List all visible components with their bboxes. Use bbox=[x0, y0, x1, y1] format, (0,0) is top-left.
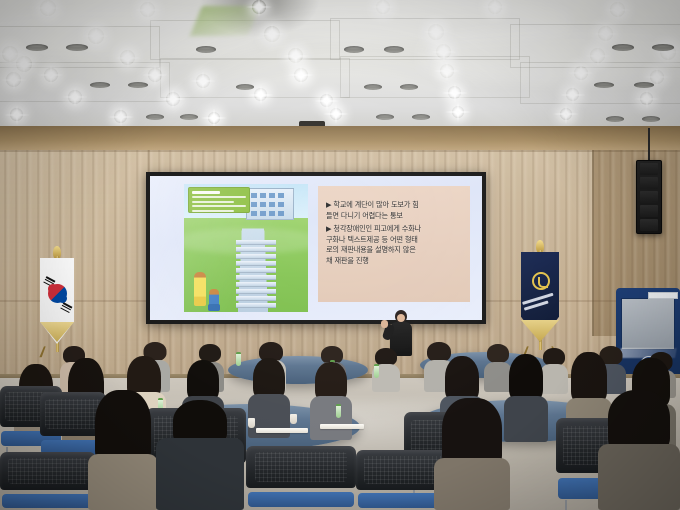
ceiling-downlight bbox=[598, 26, 613, 41]
ceiling-downlight bbox=[68, 90, 82, 104]
ceiling-downlight bbox=[428, 24, 444, 40]
audience-member-foreground bbox=[598, 392, 680, 510]
ceiling-air-vent bbox=[236, 84, 254, 90]
water-bottle bbox=[236, 352, 241, 366]
presentation-slide: ▶ 학교에 계단이 많아 도보가 힘 들면 다니기 어렵다는 통보 ▶ 청각장애… bbox=[150, 176, 482, 320]
ceiling-air-vent bbox=[642, 116, 660, 122]
ceiling-downlight bbox=[330, 108, 342, 120]
kiosk-label-plate bbox=[648, 292, 678, 299]
chair-mesh bbox=[255, 452, 347, 481]
ceiling-downlight bbox=[6, 72, 21, 87]
ceiling-downlight bbox=[120, 50, 135, 65]
conference-chair[interactable] bbox=[0, 452, 96, 510]
slide-text-panel: ▶ 학교에 계단이 많아 도보가 힘 들면 다니기 어렵다는 통보 ▶ 청각장애… bbox=[318, 186, 470, 302]
ceiling-downlight bbox=[448, 86, 461, 99]
wall-top-band bbox=[0, 126, 680, 150]
wall-seam bbox=[0, 150, 680, 152]
audience-member-foreground bbox=[156, 402, 244, 510]
handout-paper bbox=[256, 428, 308, 433]
ceiling-downlight bbox=[44, 68, 58, 82]
ceiling-air-vent bbox=[128, 82, 148, 88]
ceiling-downlight bbox=[640, 92, 653, 105]
ceiling-downlight bbox=[196, 74, 210, 88]
ceiling-downlight bbox=[436, 44, 451, 59]
illustration-school-building bbox=[246, 188, 294, 220]
projector-beam-reflection bbox=[190, 6, 260, 36]
illustration-stroller bbox=[208, 304, 220, 311]
ceiling-downlight bbox=[2, 46, 18, 62]
ceiling-air-vent bbox=[364, 84, 382, 90]
ceiling-downlight bbox=[140, 2, 155, 17]
audience-member-foreground bbox=[434, 400, 510, 510]
water-bottle bbox=[336, 404, 341, 418]
ceiling-downlight bbox=[376, 0, 390, 14]
slide-illustration bbox=[184, 184, 308, 312]
ceiling-air-vent bbox=[196, 46, 216, 53]
ceiling-downlight bbox=[88, 28, 104, 44]
ceiling-air-vent bbox=[612, 44, 634, 51]
taeguk-circle-icon bbox=[48, 284, 67, 303]
speaker-cable bbox=[648, 128, 650, 162]
handout-paper bbox=[320, 424, 364, 429]
paper-cup bbox=[290, 414, 297, 424]
ceiling-downlight bbox=[264, 26, 280, 42]
ceiling-air-vent bbox=[634, 82, 654, 88]
chair-mesh bbox=[8, 458, 89, 485]
ceiling-air-vent bbox=[26, 44, 48, 51]
ceiling-air-vent bbox=[652, 44, 674, 51]
slide-caption-box bbox=[188, 187, 250, 213]
ceiling-downlight bbox=[40, 0, 56, 16]
illustration-person-adult bbox=[194, 272, 206, 306]
ceiling-downlight bbox=[254, 88, 267, 101]
ceiling-downlight bbox=[252, 0, 266, 14]
ceiling-air-vent bbox=[90, 82, 110, 88]
ceiling-downlight bbox=[10, 108, 23, 121]
ceiling-air-vent bbox=[400, 84, 418, 90]
ceiling-downlight bbox=[440, 64, 454, 78]
ceiling bbox=[0, 0, 680, 132]
kiosk-screen[interactable] bbox=[621, 298, 675, 350]
slide-bullet-1: ▶ 학교에 계단이 많아 도보가 힘 들면 다니기 어렵다는 통보 bbox=[326, 200, 462, 221]
ceiling-downlight bbox=[114, 110, 127, 123]
water-bottle bbox=[374, 364, 379, 378]
presenter-hand bbox=[381, 320, 388, 328]
chair-seat bbox=[2, 494, 94, 508]
paper-cup bbox=[248, 418, 255, 428]
ceiling-air-vent bbox=[412, 114, 430, 120]
ceiling-air-vent bbox=[594, 82, 614, 88]
slide-bullet-2: ▶ 청각장애인인 피고에게 수화나 구화나 텍스트제공 등 어떤 형태 로의 재… bbox=[326, 224, 462, 266]
institution-emblem-icon bbox=[532, 272, 550, 290]
audience-member bbox=[504, 356, 548, 442]
ceiling-downlight bbox=[560, 108, 572, 120]
ceiling-downlight bbox=[166, 92, 180, 106]
ceiling-downlight bbox=[574, 66, 588, 80]
ceiling-downlight bbox=[590, 48, 605, 63]
ceiling-air-vent bbox=[384, 46, 404, 53]
ceiling-downlight bbox=[452, 106, 464, 118]
ceiling-downlight bbox=[650, 70, 664, 84]
ceiling-air-vent bbox=[344, 46, 364, 53]
ceiling-air-vent bbox=[180, 114, 198, 120]
ceiling-downlight bbox=[16, 56, 32, 72]
ceiling-downlight bbox=[610, 2, 625, 17]
ceiling-downlight bbox=[288, 48, 303, 63]
line-array-speaker bbox=[636, 160, 662, 234]
presenter-face bbox=[397, 314, 405, 322]
illustration-staircase bbox=[236, 240, 276, 312]
ceiling-downlight bbox=[148, 68, 162, 82]
ceiling-air-vent bbox=[146, 114, 164, 120]
ceiling-air-vent bbox=[66, 44, 88, 51]
ceiling-downlight bbox=[208, 112, 220, 124]
ceiling-downlight bbox=[566, 88, 579, 101]
ceiling-air-vent bbox=[606, 116, 624, 122]
conference-chair[interactable] bbox=[246, 446, 356, 510]
ceiling-downlight bbox=[294, 68, 308, 82]
projection-screen[interactable]: ▶ 학교에 계단이 많아 도보가 힘 들면 다니기 어렵다는 통보 ▶ 청각장애… bbox=[150, 176, 482, 320]
ceiling-downlight bbox=[320, 94, 333, 107]
audience-member-foreground bbox=[88, 392, 158, 510]
chair-seat bbox=[248, 492, 354, 507]
lecture-hall-photo: ▶ 학교에 계단이 많아 도보가 힘 들면 다니기 어렵다는 통보 ▶ 청각장애… bbox=[0, 0, 680, 510]
ceiling-downlight bbox=[488, 0, 502, 14]
ceiling-air-vent bbox=[376, 114, 394, 120]
